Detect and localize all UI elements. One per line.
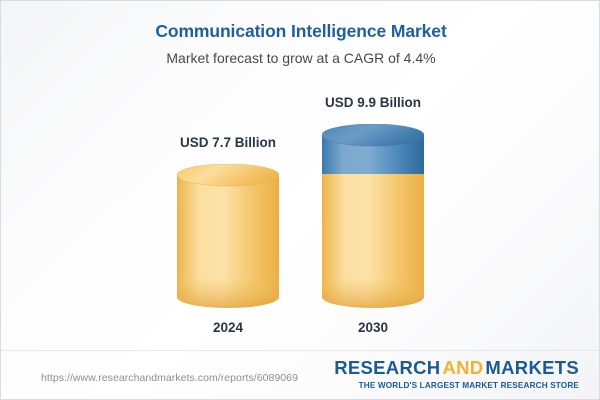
category-label-2030: 2030: [293, 320, 453, 335]
bar-value-label-2030: USD 9.9 Billion: [293, 95, 453, 110]
brand-tagline: THE WORLD'S LARGEST MARKET RESEARCH STOR…: [334, 382, 579, 390]
brand-word-and: AND: [442, 357, 483, 378]
cylinder-2030-svg: [322, 124, 424, 308]
cylinder-bar-2030: [322, 124, 424, 308]
cylinder-2024-svg: [177, 164, 279, 308]
chart-plot-area: USD 7.7 Billion: [1, 1, 600, 346]
brand-word-research: RESEARCH: [334, 357, 440, 378]
brand-word-markets: MARKETS: [485, 357, 579, 378]
brand-logo[interactable]: RESEARCHANDMARKETS THE WORLD'S LARGEST M…: [334, 359, 579, 390]
footer: https://www.researchandmarkets.com/repor…: [1, 351, 599, 399]
cylinder-bar-2024: [177, 164, 279, 308]
bar-group-2030: USD 9.9 Billion: [293, 1, 453, 346]
bar-group-2024: USD 7.7 Billion: [148, 1, 308, 346]
source-url-link[interactable]: https://www.researchandmarkets.com/repor…: [41, 372, 298, 384]
market-forecast-infographic: Communication Intelligence Market Market…: [0, 0, 600, 400]
bar-value-label-2024: USD 7.7 Billion: [148, 135, 308, 150]
category-label-2024: 2024: [148, 320, 308, 335]
brand-logo-wordmark: RESEARCHANDMARKETS: [334, 359, 579, 378]
